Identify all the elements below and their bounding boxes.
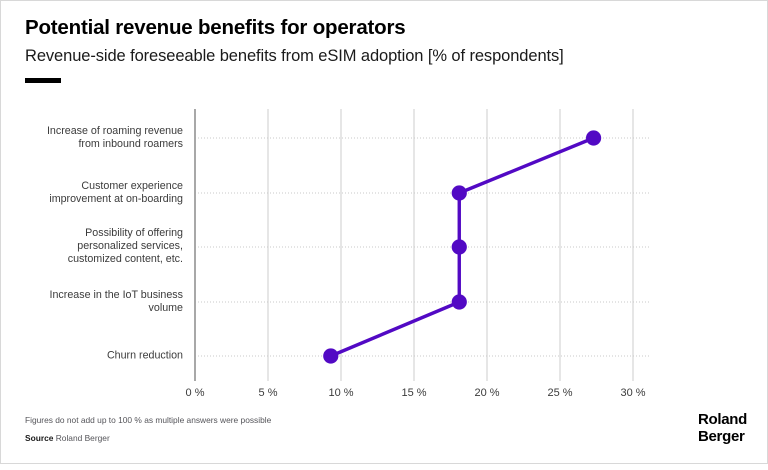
x-axis-tick-label: 0 % [186,387,205,399]
chart-footnote: Figures do not add up to 100 % as multip… [25,415,271,425]
y-axis-label: Churn reduction [23,349,183,362]
x-axis-tick-label: 5 % [259,387,278,399]
y-axis-label: Increase of roaming revenue from inbound… [23,125,183,151]
x-axis-tick-label: 10 % [328,387,353,399]
data-point-marker[interactable] [323,348,338,363]
data-point-marker[interactable] [586,130,601,145]
data-point-marker[interactable] [452,239,467,254]
gridlines-group [195,109,649,381]
y-axis-label: Customer experience improvement at on-bo… [23,180,183,206]
chart-source: Source Roland Berger [25,433,110,443]
x-axis-tick-label: 20 % [474,387,499,399]
x-axis-tick-label: 15 % [401,387,426,399]
logo-line-1: Roland [698,412,747,429]
x-axis-tick-label: 30 % [620,387,645,399]
chart-plot-area: Increase of roaming revenue from inbound… [1,1,768,465]
roland-berger-logo: Roland Berger [698,412,747,445]
y-axis-label: Increase in the IoT business volume [23,289,183,315]
source-value: Roland Berger [56,433,110,443]
data-point-marker[interactable] [452,294,467,309]
slide: Potential revenue benefits for operators… [0,0,768,464]
data-point-marker[interactable] [452,185,467,200]
y-axis-label: Possibility of offering personalized ser… [23,227,183,267]
source-label: Source [25,433,53,443]
logo-line-2: Berger [698,429,747,446]
x-axis-tick-label: 25 % [547,387,572,399]
